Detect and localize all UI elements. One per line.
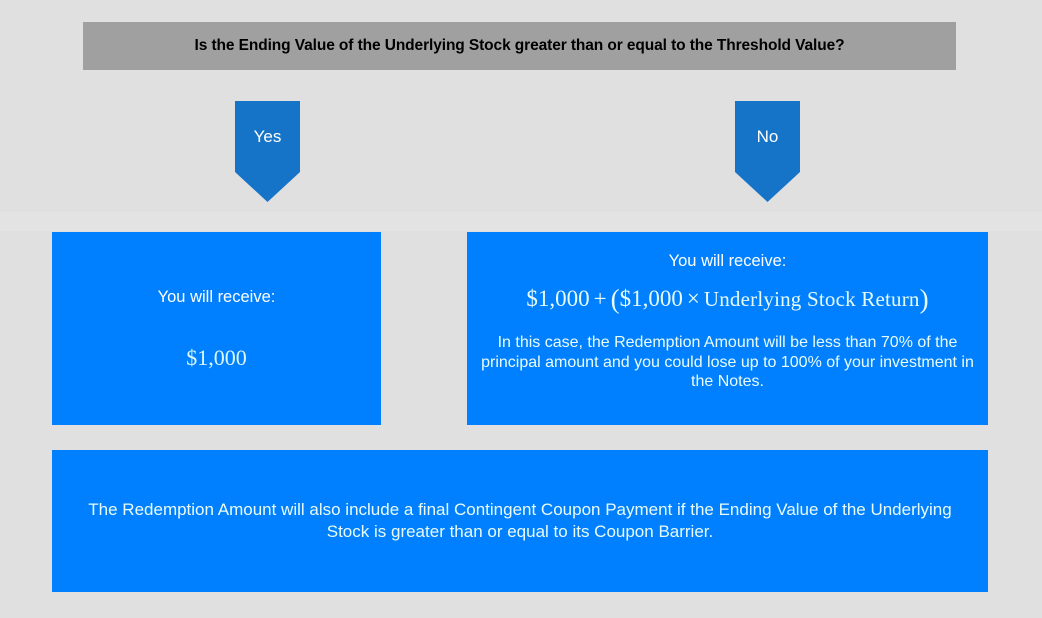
redemption-formula: $1,000 + ($1,000 × Underlying Stock Retu…	[526, 284, 928, 317]
formula-open-paren: (	[611, 284, 620, 314]
branch-arrow-no: No	[735, 101, 800, 202]
formula-principal: $1,000	[526, 286, 589, 311]
formula-times-operator: ×	[687, 286, 700, 311]
formula-plus-operator: +	[594, 286, 607, 311]
formula-close-paren: )	[920, 284, 929, 314]
branch-arrow-label-no: No	[735, 101, 800, 172]
branch-arrow-yes: Yes	[235, 101, 300, 202]
row-separator-line	[0, 210, 1042, 211]
footnote-text: The Redemption Amount will also include …	[52, 499, 988, 543]
outcome-yes-amount: $1,000	[186, 345, 247, 371]
flowchart-canvas: Is the Ending Value of the Underlying St…	[0, 0, 1042, 618]
outcome-no-receive-label: You will receive:	[669, 250, 787, 272]
outcome-yes-receive-label: You will receive:	[158, 286, 276, 308]
formula-variable: Underlying Stock Return	[704, 287, 920, 311]
branch-arrow-label-yes: Yes	[235, 101, 300, 172]
footnote-box: The Redemption Amount will also include …	[52, 450, 988, 592]
outcome-box-no: You will receive: $1,000 + ($1,000 × Und…	[467, 232, 988, 425]
row-separator-band	[0, 210, 1042, 231]
question-header-text: Is the Ending Value of the Underlying St…	[195, 36, 845, 56]
outcome-no-warning-text: In this case, the Redemption Amount will…	[467, 333, 988, 392]
question-header-box: Is the Ending Value of the Underlying St…	[83, 22, 956, 70]
formula-multiplicand: $1,000	[620, 286, 683, 311]
outcome-box-yes: You will receive: $1,000	[52, 232, 381, 425]
